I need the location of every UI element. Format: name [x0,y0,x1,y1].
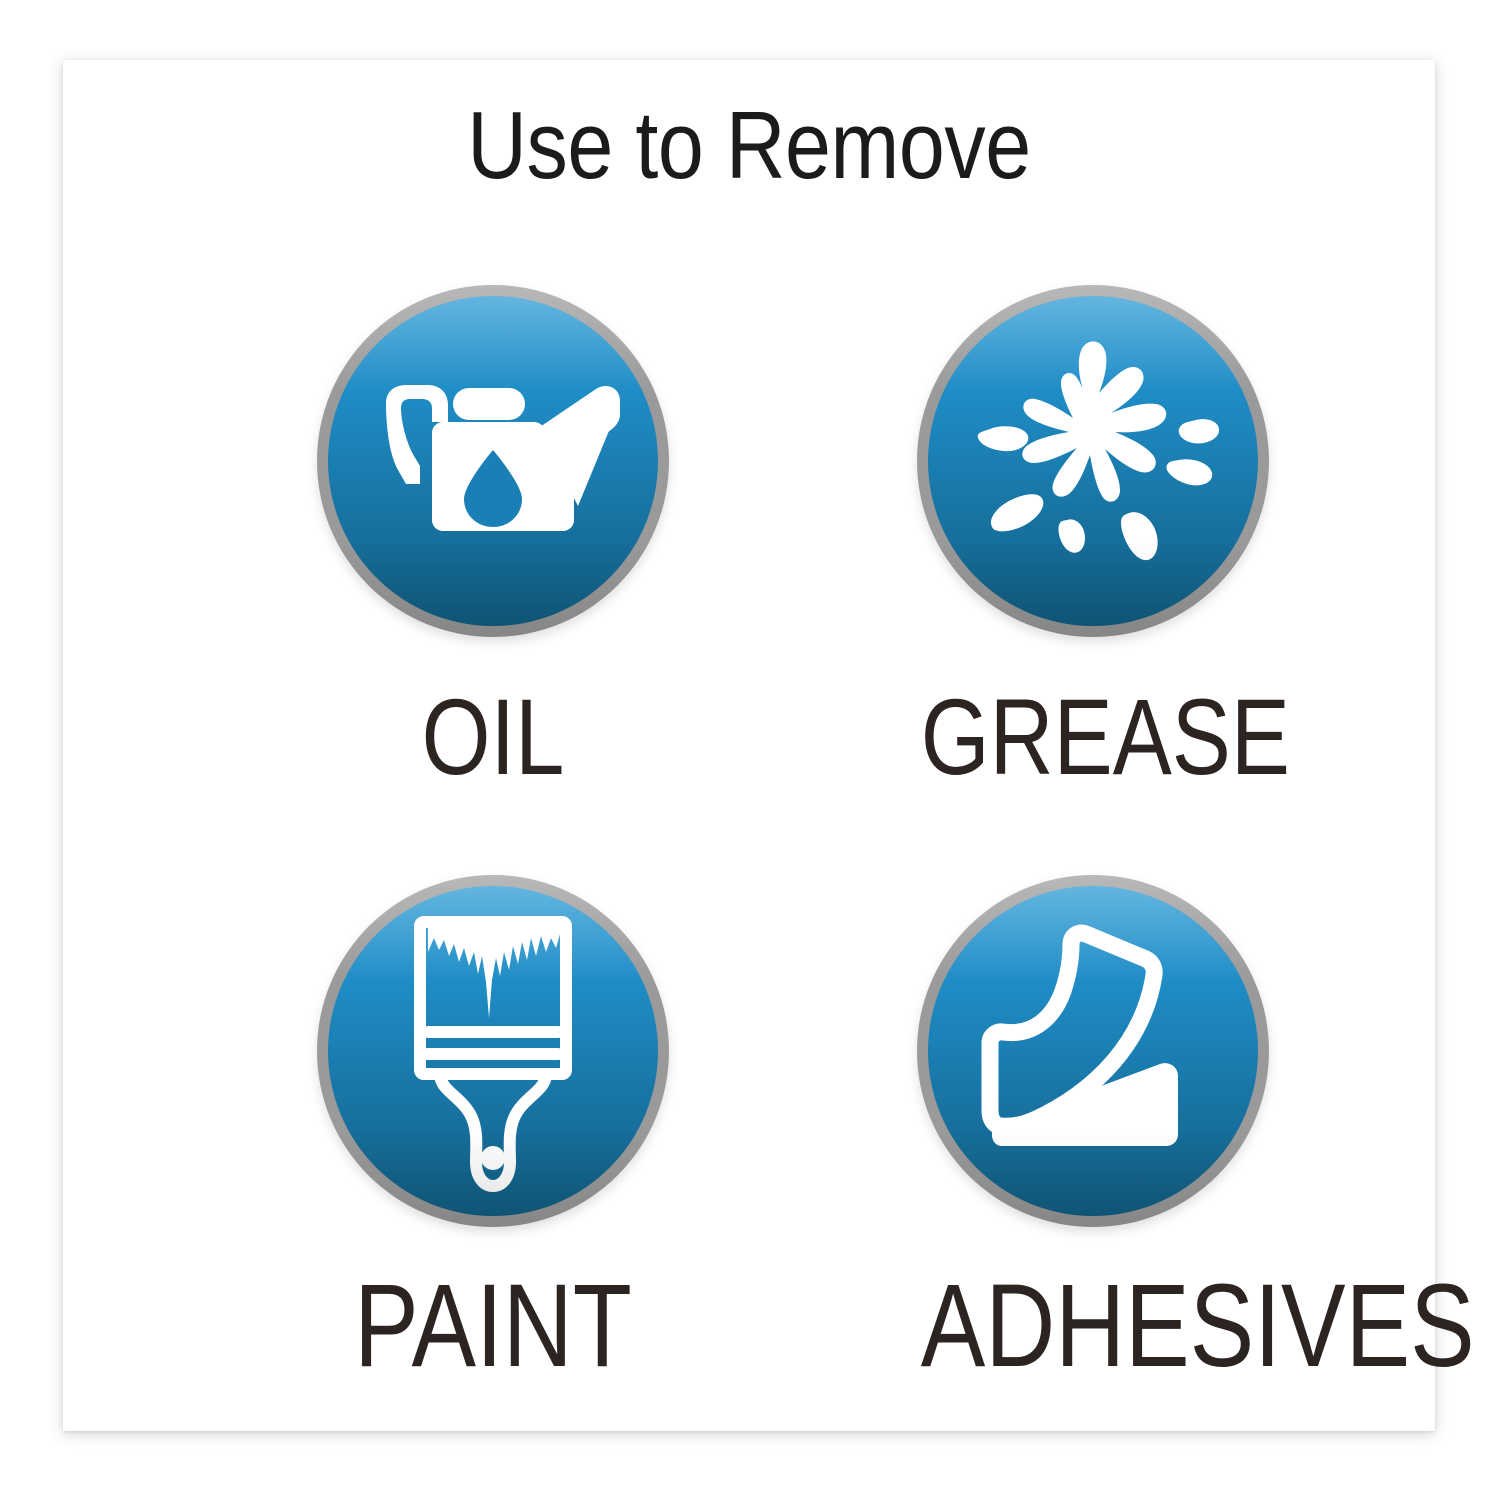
badge-inner-grease [928,296,1258,626]
badge-inner-adhesives [928,886,1258,1216]
caption-oil: OIL [321,683,665,791]
badge-inner-paint [328,886,658,1216]
badge-inner-oil [328,296,658,626]
page-title: Use to Remove [159,98,1339,194]
badge-adhesives[interactable] [917,875,1269,1227]
grease-splat-icon [928,296,1258,626]
info-card: Use to Remove [63,60,1435,1431]
caption-adhesives: ADHESIVES [921,1267,1265,1385]
peeling-tape-icon [928,886,1258,1216]
item-oil[interactable]: OIL [283,285,703,791]
badge-oil[interactable] [317,285,669,637]
item-adhesives[interactable]: ADHESIVES [883,875,1303,1385]
paint-brush-icon [328,886,658,1216]
oil-can-icon [328,296,658,626]
caption-grease: GREASE [921,683,1265,791]
item-grease[interactable]: GREASE [883,285,1303,791]
item-paint[interactable]: PAINT [283,875,703,1385]
caption-paint: PAINT [321,1267,665,1385]
badge-grease[interactable] [917,285,1269,637]
infographic-stage: Use to Remove [0,0,1500,1500]
badge-paint[interactable] [317,875,669,1227]
